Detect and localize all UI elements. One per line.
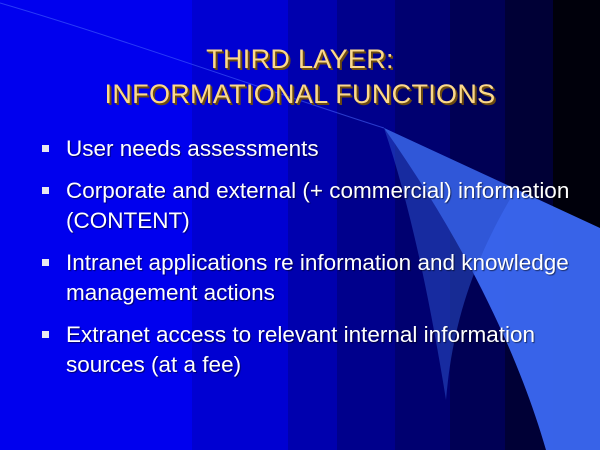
- bullet-square-icon: [42, 331, 49, 338]
- list-item: User needs assessments: [42, 134, 570, 164]
- bullet-square-icon: [42, 145, 49, 152]
- slide-content: THIRD LAYER: INFORMATIONAL FUNCTIONS Use…: [0, 0, 600, 450]
- list-item: Intranet applications re information and…: [42, 248, 570, 308]
- bullet-square-icon: [42, 187, 49, 194]
- bullet-list: User needs assessments Corporate and ext…: [42, 134, 570, 392]
- bullet-square-icon: [42, 259, 49, 266]
- list-item-label: Extranet access to relevant internal inf…: [66, 320, 570, 380]
- list-item: Extranet access to relevant internal inf…: [42, 320, 570, 380]
- list-item-label: User needs assessments: [66, 134, 570, 164]
- list-item: Corporate and external (+ commercial) in…: [42, 176, 570, 236]
- page-title: THIRD LAYER: INFORMATIONAL FUNCTIONS: [0, 42, 600, 112]
- list-item-label: Corporate and external (+ commercial) in…: [66, 176, 570, 236]
- list-item-label: Intranet applications re information and…: [66, 248, 570, 308]
- slide-canvas: THIRD LAYER: INFORMATIONAL FUNCTIONS Use…: [0, 0, 600, 450]
